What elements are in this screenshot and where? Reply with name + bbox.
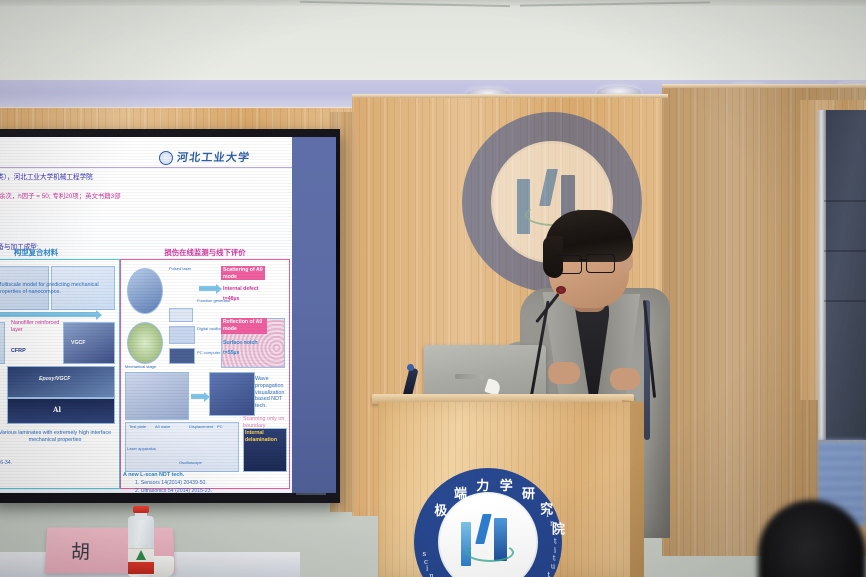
podium-emblem: 极 端 力 学 研 究 院 I n s t i t u t e o f E <box>414 468 562 577</box>
ceiling <box>0 0 866 82</box>
flow-arrow <box>199 286 217 291</box>
laptop-logo <box>455 374 483 379</box>
figure-tile <box>0 322 5 364</box>
figure-label: Internal defect <box>223 286 258 293</box>
figure-label: t=55µs <box>223 350 239 357</box>
wall-recess <box>824 110 866 440</box>
wall-trim <box>352 94 668 98</box>
figure-caption: CFRP <box>11 348 51 355</box>
figure-label: Internal delamination <box>245 430 283 443</box>
panel-left-title: 构型复合材料 <box>0 248 119 259</box>
microphone-head-icon <box>556 286 566 294</box>
figure-tile <box>169 326 195 344</box>
university-logo-text: 河北工业大学 <box>176 150 251 166</box>
figure-caption: Nanofiller reinforced layer <box>11 320 71 334</box>
water-bottle <box>127 506 155 577</box>
metal-door-edge <box>818 110 826 440</box>
figure-label: Al <box>53 406 61 415</box>
slide-content: 河北工业大学 特聘专家，杰青（B类），河北工业大学机械工程学院 .edu.cn … <box>0 137 292 493</box>
panel-ndt: 损伤在线监测与线下评价 Mechanical stage Pulsed lase… <box>120 259 290 489</box>
figure-caption: Test plate <box>129 424 146 429</box>
podium: 极 端 力 学 研 究 院 I n s t i t u t e o f E <box>378 402 630 577</box>
lecture-room-photo: 河北工业大学 特聘专家，杰青（B类），河北工业大学机械工程学院 .edu.cn … <box>0 0 866 577</box>
eyeglasses-icon <box>554 255 582 274</box>
speaker-hand <box>548 362 580 384</box>
bio-line: 特聘专家，杰青（B类），河北工业大学机械工程学院 <box>0 173 292 183</box>
figure-tile <box>209 372 255 416</box>
figure-label: Epoxy/VGCF <box>39 376 70 383</box>
laser-pointer-tip <box>407 364 414 371</box>
recess-line <box>824 200 866 202</box>
figure-caption: PC <box>217 424 223 429</box>
university-logo: 河北工业大学 <box>159 150 250 166</box>
slide-bio-block: 特聘专家，杰青（B类），河北工业大学机械工程学院 .edu.cn I：350），… <box>0 173 292 201</box>
bio-email: .edu.cn <box>0 183 292 192</box>
figure-label: Reflection of A0 mode <box>223 319 267 332</box>
bottle-tree-icon <box>136 550 146 560</box>
eyeglasses-bridge <box>579 259 587 261</box>
recess-line <box>824 300 866 302</box>
presentation-display[interactable]: 河北工业大学 特聘专家，杰青（B类），河北工业大学机械工程学院 .edu.cn … <box>0 137 292 493</box>
figure-caption: PC computer <box>197 350 220 355</box>
figure-tile <box>125 372 189 420</box>
wall-trim <box>662 84 866 88</box>
flow-arrow <box>0 312 97 317</box>
figure-label: Surface notch <box>223 340 258 347</box>
topic-item: 科学; <box>0 221 290 231</box>
figure-caption: A0 wave <box>155 424 170 429</box>
reference-line: 2. Ultrasonics 54 (2014) 2015-23. <box>135 488 212 493</box>
speaker-hand <box>610 368 640 390</box>
figure-caption: Displacement <box>189 424 213 429</box>
figure-caption: Pulsed laser <box>169 266 191 271</box>
reference-line: 1. Sensors 14(2014) 20439-50. <box>135 480 207 488</box>
panel-right-footer-title: A new L-scan NDT tech. <box>123 472 184 479</box>
display-blue-area <box>292 137 336 493</box>
figure-caption: Multiscale model for predicting mechanic… <box>0 282 109 296</box>
figure-label: Scattering of A0 mode <box>223 267 265 280</box>
figure-tile <box>127 322 163 364</box>
slide-header: 河北工业大学 <box>0 140 292 170</box>
figure-caption: Fibre + matrix treatment <box>0 390 3 404</box>
reference-line: Part-A 68 (2015) 226-34. <box>0 460 12 468</box>
figure-tile <box>127 268 163 314</box>
emblem-monogram <box>457 512 519 571</box>
topic-item: 能评价; <box>0 232 290 242</box>
figure-caption: CFRP and GLARE: <box>0 370 1 384</box>
bottle-label-band <box>128 562 154 574</box>
panel-composites: 构型复合材料 Multiscale model for predicting m… <box>0 259 120 489</box>
figure-caption: Various laminates with extremely high in… <box>0 430 113 444</box>
panel-right-title: 损伤在线监测与线下评价 <box>121 248 289 259</box>
figure-tile <box>169 348 195 364</box>
figure-caption: Laser apparatus <box>127 446 156 451</box>
recess-line <box>824 250 866 252</box>
slide-figure-panels: 构型复合材料 Multiscale model for predicting m… <box>0 259 292 491</box>
figure-label: VGCF <box>71 340 85 347</box>
figure-caption: Oscilloscope <box>179 460 202 465</box>
bio-metrics: I：350），引用10000余次，h因子 = 50; 专利20项；英文书籍3部 <box>0 192 292 201</box>
eyeglasses-icon <box>586 254 615 273</box>
university-seal-icon <box>159 151 173 165</box>
figure-caption: Mechanical stage <box>125 364 156 369</box>
bottle-cap <box>133 506 149 513</box>
figure-label: t=48µs <box>223 296 239 303</box>
flow-arrow <box>191 394 205 399</box>
figure-tile <box>169 308 193 322</box>
figure-caption: Wave propagation visualization based NDT… <box>255 376 287 410</box>
slide-header-rule <box>0 167 292 168</box>
